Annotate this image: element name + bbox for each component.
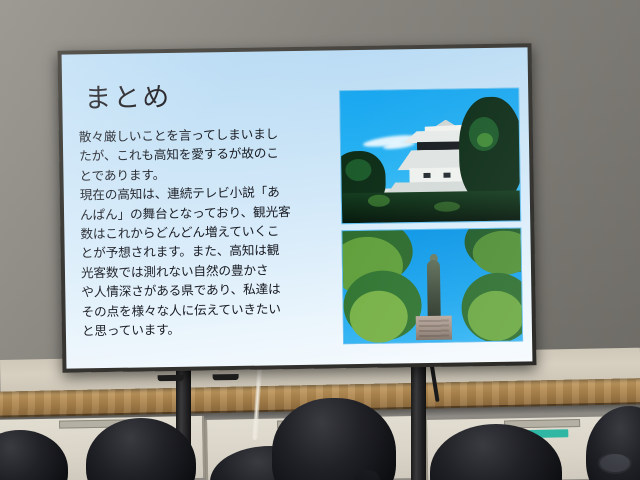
statue-pedestal [416,316,452,341]
statue-photo [341,227,523,344]
display-stand-post-right [411,362,426,480]
slide: まとめ 散々厳しいことを言ってしまいまし たが、これも高知を愛するが故のこ とで… [62,47,533,368]
castle-window [423,173,430,178]
tree-lit [467,290,523,341]
eyeglasses [598,452,632,474]
castle-photo [339,87,521,224]
tree [458,96,521,203]
presentation-display[interactable]: まとめ 散々厳しいことを言ってしまいまし たが、これも高知を愛するが故のこ とで… [58,43,537,372]
display-screen[interactable]: まとめ 散々厳しいことを言ってしまいまし たが、これも高知を愛するが故のこ とで… [62,47,533,368]
slide-line: と思っています。 [82,318,348,341]
castle-window [443,173,450,178]
display-foot [213,374,239,380]
slide-title: まとめ [84,75,172,115]
foreground-foliage [342,190,520,223]
slide-body-text: 散々厳しいことを言ってしまいまし たが、これも高知を愛するが故のこ とであります… [79,124,348,342]
statue-figure [427,260,441,318]
display-foot [158,375,184,381]
classroom-scene: まとめ 散々厳しいことを言ってしまいまし たが、これも高知を愛するが故のこ とで… [0,0,640,480]
